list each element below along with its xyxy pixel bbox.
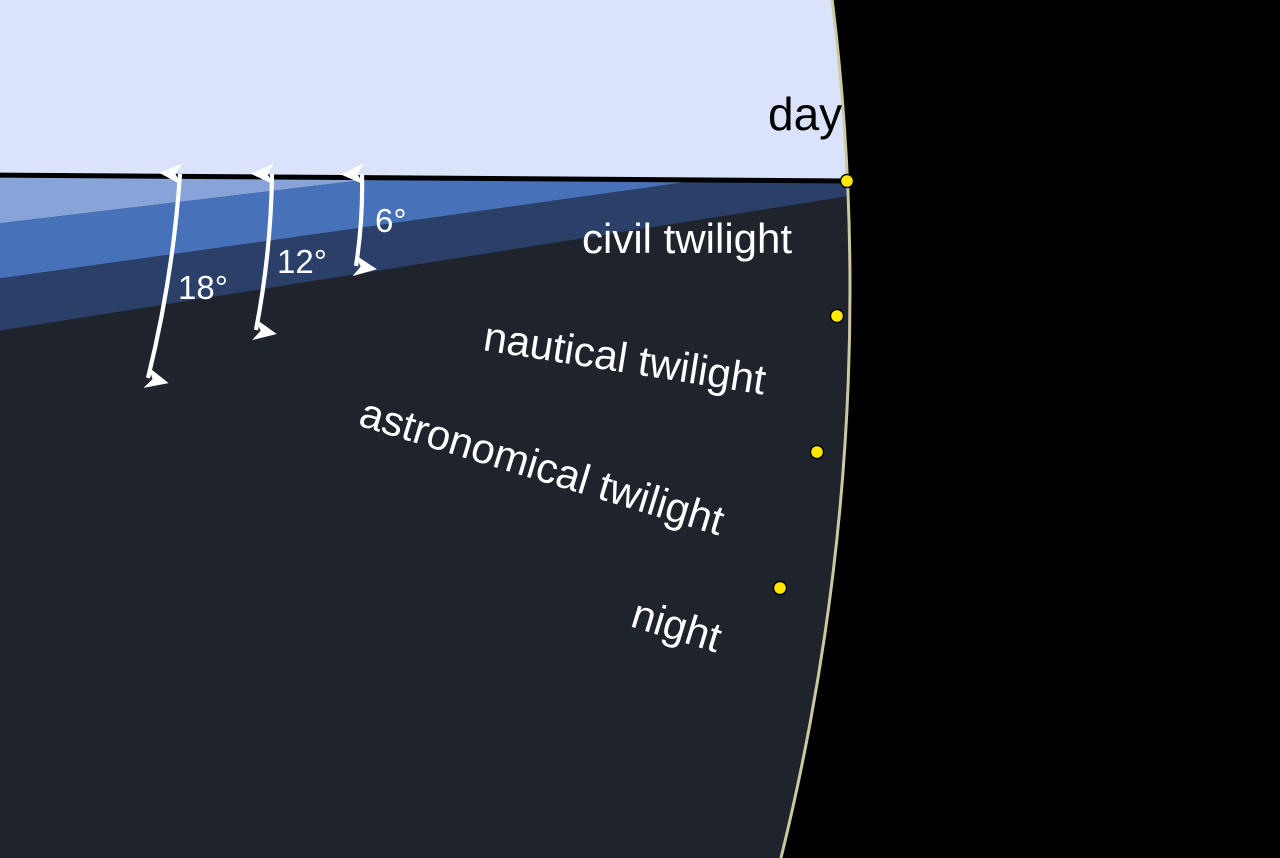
- twilight-zones-diagram: 18° 12° 6° day civil twilight nautical t…: [0, 0, 1280, 858]
- zone-day: [0, 0, 900, 181]
- twilight-diagram-canvas: 18° 12° 6° day civil twilight nautical t…: [0, 0, 1280, 858]
- angle-label-6-degrees: 6°: [375, 202, 407, 239]
- marker-horizon: [841, 175, 854, 188]
- angle-label-18-degrees: 18°: [178, 269, 228, 306]
- marker-nautical: [811, 446, 824, 459]
- zone-label-day: day: [768, 88, 842, 140]
- zone-label-civil-twilight: civil twilight: [582, 215, 792, 262]
- angle-label-12-degrees: 12°: [277, 243, 327, 280]
- marker-astronomical: [774, 582, 787, 595]
- marker-civil: [831, 310, 844, 323]
